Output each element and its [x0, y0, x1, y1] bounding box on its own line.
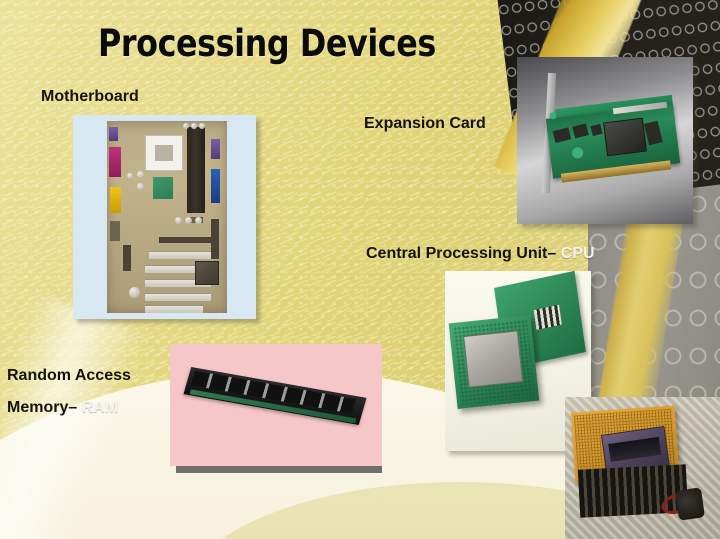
expansion-card-controller-chip [603, 118, 647, 157]
label-ram-line2: Memory– RAM [7, 399, 118, 417]
label-cpu-abbr: CPU [561, 245, 595, 262]
label-motherboard: Motherboard [41, 88, 139, 106]
fan-housing [675, 487, 705, 520]
label-cpu-full: Central Processing Unit– [366, 245, 556, 262]
motherboard-photo [73, 115, 256, 319]
ram-module-photo [170, 344, 382, 466]
label-ram-text: Memory– [7, 399, 77, 416]
label-ram-abbr: RAM [82, 399, 118, 416]
cpu-die [463, 330, 523, 387]
label-expansion-card: Expansion Card [364, 115, 486, 133]
page-title: Processing Devices [98, 22, 436, 65]
label-cpu: Central Processing Unit– CPU [366, 245, 595, 263]
expansion-card-photo [517, 57, 693, 224]
label-ram-line1: Random Access [7, 367, 131, 385]
ram-photo-shadow-bar [176, 466, 382, 473]
slide-canvas: Processing Devices Motherboard [0, 0, 720, 539]
ram-dimm [183, 367, 366, 425]
cpu-heatsink-photo [565, 397, 720, 539]
cpu-chip-front [449, 315, 540, 409]
cpu-core-label [608, 437, 661, 462]
motherboard-pcb [107, 121, 227, 313]
